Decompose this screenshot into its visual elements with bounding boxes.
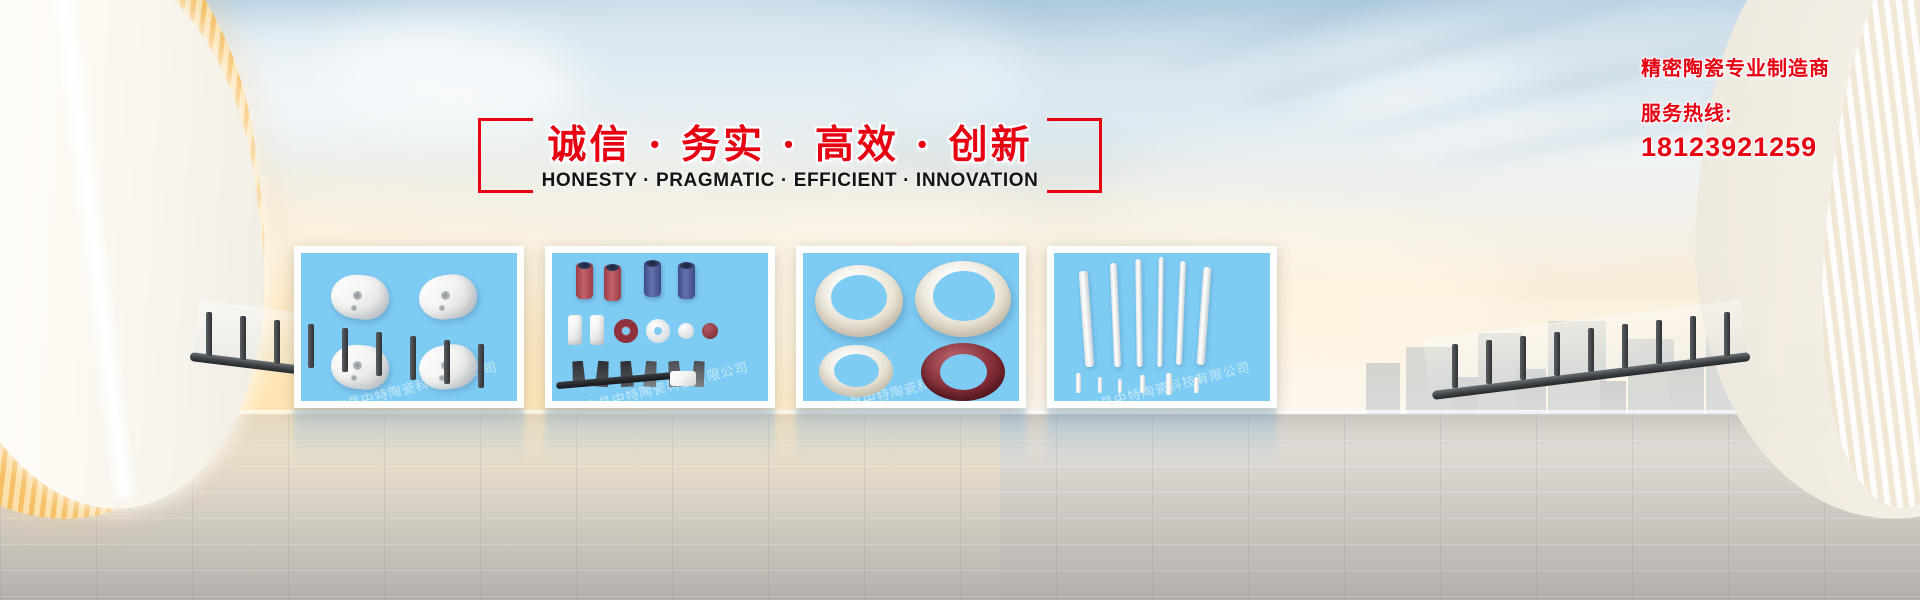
ceramic-pin bbox=[1194, 377, 1199, 393]
panel-reflection bbox=[1047, 408, 1277, 460]
panel-reflection bbox=[545, 408, 775, 460]
ceramic-seal-ring-maroon-bore bbox=[940, 354, 987, 390]
railing-post bbox=[376, 332, 382, 376]
ceramic-fitting-hole bbox=[439, 305, 445, 311]
railing-post bbox=[342, 328, 348, 372]
ceramic-pin bbox=[1098, 377, 1102, 393]
railing-post bbox=[240, 316, 246, 360]
ceramic-pin bbox=[1166, 373, 1172, 395]
ceramic-fitting-hole bbox=[353, 361, 362, 370]
hero-banner: 诚信 · 务实 · 高效 · 创新 HONESTY · PRAGMATIC · … bbox=[0, 0, 1920, 600]
railing-post bbox=[1452, 344, 1458, 388]
cable-connector bbox=[670, 371, 696, 386]
ceramic-rod bbox=[1110, 263, 1121, 367]
ceramic-fitting-hole bbox=[353, 291, 362, 300]
ceramic-tube-bore bbox=[606, 264, 619, 271]
ceramic-fitting-hole bbox=[351, 305, 357, 311]
ceramic-fitting-hole bbox=[441, 291, 450, 300]
ceramic-pin bbox=[1118, 379, 1122, 393]
ceramic-ring-white-bore bbox=[654, 327, 662, 335]
railing-post bbox=[478, 344, 484, 388]
ceramic-plate bbox=[590, 315, 604, 345]
ceramic-cap bbox=[678, 323, 694, 339]
hotline-phone-number[interactable]: 18123921259 bbox=[1641, 132, 1830, 163]
ceramic-seal-ring-white-bore bbox=[834, 354, 879, 387]
ceramic-seal-ring-large-bore bbox=[933, 271, 995, 321]
ceramic-rod bbox=[1135, 259, 1143, 367]
slogan-chinese: 诚信 · 务实 · 高效 · 创新 bbox=[470, 114, 1110, 170]
railing-post bbox=[444, 340, 450, 384]
railing-post bbox=[206, 312, 212, 356]
product-panel-4[interactable]: 新化县中特陶瓷科技有限公司 bbox=[1047, 246, 1277, 408]
railing-post bbox=[1724, 312, 1730, 356]
ceramic-seal-ring-large-bore bbox=[831, 275, 887, 320]
contact-block: 精密陶瓷专业制造商 服务热线: 18123921259 bbox=[1641, 52, 1830, 163]
railing-post bbox=[1520, 336, 1526, 380]
railing-post bbox=[1486, 340, 1492, 384]
company-tagline: 精密陶瓷专业制造商 bbox=[1641, 52, 1830, 81]
panel-reflection bbox=[294, 408, 524, 460]
ceramic-tube-bore bbox=[646, 260, 659, 267]
ceramic-fitting-hole bbox=[351, 375, 357, 381]
ceramic-tube-bore bbox=[578, 262, 591, 269]
product-panel-1[interactable]: 新化县中特陶瓷科技有限公司 bbox=[294, 246, 524, 408]
railing-post bbox=[1622, 324, 1628, 368]
ceramic-rod bbox=[1176, 261, 1186, 365]
slogan-english: HONESTY · PRAGMATIC · EFFICIENT · INNOVA… bbox=[470, 170, 1110, 192]
railing-post bbox=[308, 324, 314, 368]
slogan-block: 诚信 · 务实 · 高效 · 创新 HONESTY · PRAGMATIC · … bbox=[470, 100, 1110, 210]
ceramic-ring-red-bore bbox=[622, 327, 630, 335]
product-panel-3[interactable]: 新化县中特陶瓷科技有限公司 bbox=[796, 246, 1026, 408]
cloud-streak bbox=[1235, 0, 1654, 111]
panel-reflection bbox=[796, 408, 1026, 460]
ceramic-tube-bore bbox=[680, 262, 693, 269]
railing-post bbox=[410, 336, 416, 380]
product-panel-2[interactable]: 新化县中特陶瓷科技有限公司 bbox=[545, 246, 775, 408]
ceramic-plate bbox=[568, 315, 582, 345]
railing-post bbox=[1690, 316, 1696, 360]
ceramic-pin bbox=[1140, 375, 1145, 393]
ceramic-rod bbox=[1197, 267, 1212, 365]
ceramic-rod bbox=[1079, 271, 1095, 367]
ceramic-rod bbox=[1157, 257, 1164, 367]
railing-post bbox=[1588, 328, 1594, 372]
railing-post bbox=[1656, 320, 1662, 364]
railing-post bbox=[1554, 332, 1560, 376]
ceramic-eyelet-red bbox=[702, 323, 718, 339]
railing-post bbox=[274, 320, 280, 364]
ceramic-pin bbox=[1076, 373, 1081, 393]
hotline-label: 服务热线: bbox=[1641, 97, 1830, 126]
